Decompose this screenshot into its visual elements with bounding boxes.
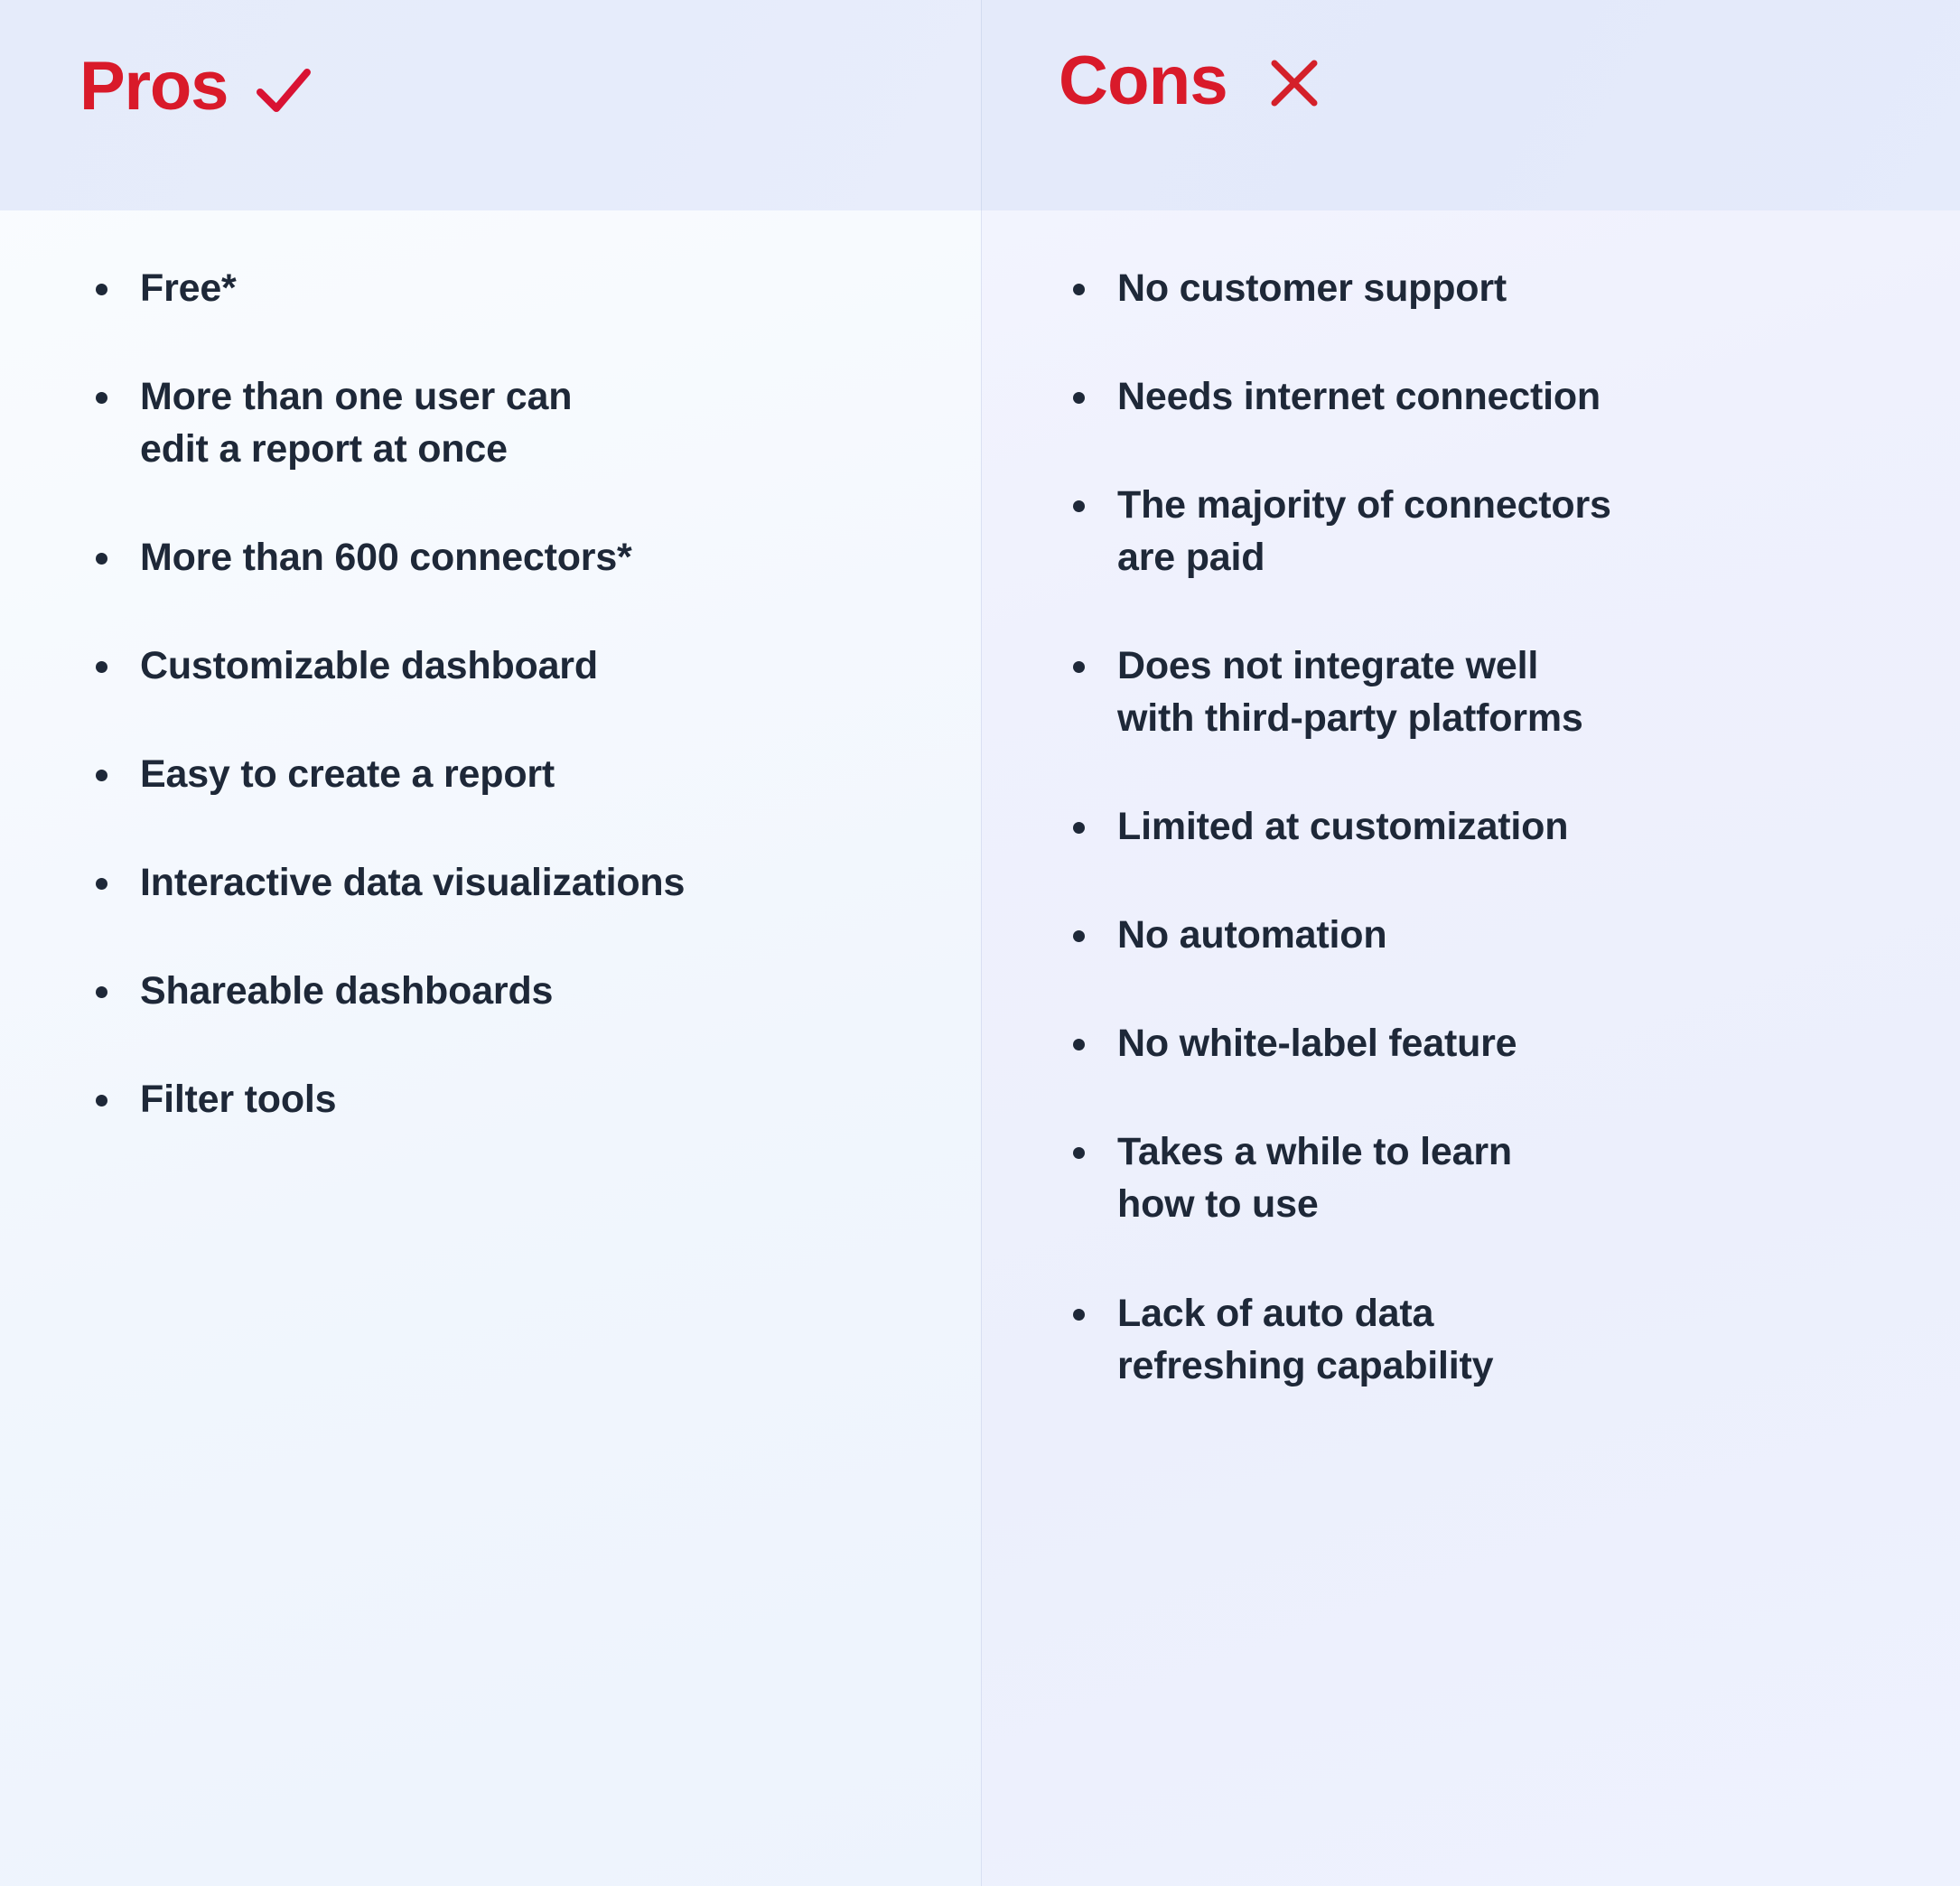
list-item: No customer support — [1060, 262, 1891, 314]
list-item: Filter tools — [83, 1073, 896, 1125]
cons-header: Cons — [1059, 47, 1323, 116]
list-item: More than 600 connectors* — [83, 531, 896, 584]
list-item-line: Easy to create a report — [140, 748, 896, 800]
list-item-line: Filter tools — [140, 1073, 896, 1125]
list-item: Lack of auto data refreshing capability — [1060, 1287, 1891, 1392]
list-item-line: Customizable dashboard — [140, 640, 896, 692]
list-item-line: how to use — [1117, 1178, 1891, 1230]
check-icon — [251, 58, 316, 123]
list-item-line: Free* — [140, 262, 896, 314]
pros-header: Pros — [79, 51, 316, 123]
list-item: No automation — [1060, 909, 1891, 961]
list-item-line: The majority of connectors — [1117, 479, 1891, 531]
list-item: The majority of connectors are paid — [1060, 479, 1891, 584]
list-item-line: Lack of auto data — [1117, 1287, 1891, 1340]
pros-column: Pros Free* More than one user can edit a… — [0, 0, 981, 1886]
pros-list: Free* More than one user can edit a repo… — [83, 262, 896, 1125]
list-item-line: No white-label feature — [1117, 1017, 1891, 1069]
list-item: Needs internet connection — [1060, 370, 1891, 423]
cons-column: Cons No customer support Needs internet … — [981, 0, 1960, 1886]
list-item: Takes a while to learn how to use — [1060, 1125, 1891, 1230]
list-item: Customizable dashboard — [83, 640, 896, 692]
list-item-line: refreshing capability — [1117, 1340, 1891, 1392]
list-item: Does not integrate well with third-party… — [1060, 640, 1891, 744]
list-item-line: No automation — [1117, 909, 1891, 961]
list-item-line: Interactive data visualizations — [140, 856, 896, 909]
list-item-line: More than one user can — [140, 370, 896, 423]
list-item: More than one user can edit a report at … — [83, 370, 896, 475]
list-item-line: Takes a while to learn — [1117, 1125, 1891, 1178]
list-item-line: Needs internet connection — [1117, 370, 1891, 423]
list-item: Shareable dashboards — [83, 965, 896, 1017]
list-item-line: Limited at customization — [1117, 800, 1891, 853]
pros-cons-comparison: Pros Free* More than one user can edit a… — [0, 0, 1960, 1886]
list-item-line: Does not integrate well — [1117, 640, 1891, 692]
list-item-line: No customer support — [1117, 262, 1891, 314]
list-item: Limited at customization — [1060, 800, 1891, 853]
list-item: Interactive data visualizations — [83, 856, 896, 909]
list-item-line: edit a report at once — [140, 423, 896, 475]
close-icon — [1265, 54, 1323, 112]
list-item-line: Shareable dashboards — [140, 965, 896, 1017]
cons-title: Cons — [1059, 47, 1227, 116]
list-item-line: More than 600 connectors* — [140, 531, 896, 584]
cons-list: No customer support Needs internet conne… — [1060, 262, 1891, 1392]
list-item: No white-label feature — [1060, 1017, 1891, 1069]
list-item-line: are paid — [1117, 531, 1891, 584]
list-item: Easy to create a report — [83, 748, 896, 800]
list-item: Free* — [83, 262, 896, 314]
list-item-line: with third-party platforms — [1117, 692, 1891, 744]
pros-title: Pros — [79, 52, 228, 121]
